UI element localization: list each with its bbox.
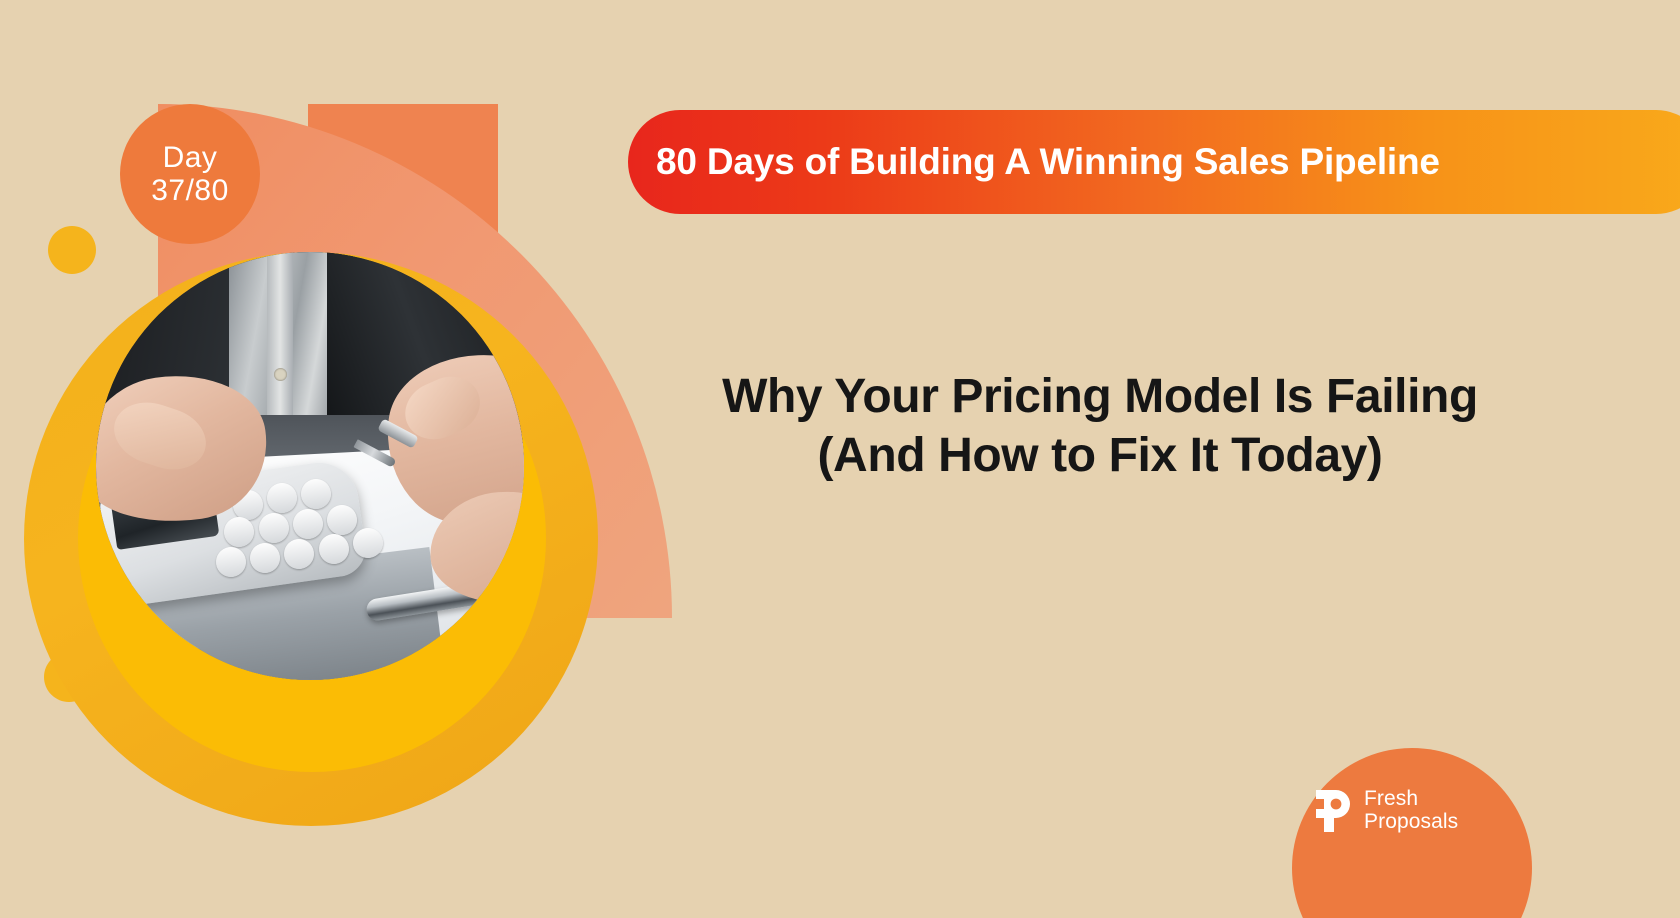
logo-text-line-1: Fresh xyxy=(1364,787,1418,810)
calculator-photo xyxy=(96,252,524,680)
series-banner-text: 80 Days of Building A Winning Sales Pipe… xyxy=(628,141,1440,183)
article-title-line-1: Why Your Pricing Model Is Failing xyxy=(700,368,1500,427)
day-badge-count: 37/80 xyxy=(151,174,229,207)
article-title-line-2: (And How to Fix It Today) xyxy=(700,427,1500,486)
yellow-dot-top xyxy=(48,226,96,274)
fresh-proposals-p-mark-icon xyxy=(1312,790,1352,832)
photo-shirt-button xyxy=(274,368,287,381)
article-title: Why Your Pricing Model Is Failing (And H… xyxy=(700,368,1500,485)
logo-text-line-2: Proposals xyxy=(1364,810,1458,833)
poster-canvas: Day 37/80 80 Days of Building A Winning … xyxy=(0,0,1680,918)
day-badge-label: Day xyxy=(163,141,218,174)
fresh-proposals-logo-text: Fresh Proposals xyxy=(1364,788,1458,833)
series-banner: 80 Days of Building A Winning Sales Pipe… xyxy=(628,110,1680,214)
day-badge: Day 37/80 xyxy=(120,104,260,244)
fresh-proposals-logo[interactable]: Fresh Proposals xyxy=(1312,788,1458,833)
